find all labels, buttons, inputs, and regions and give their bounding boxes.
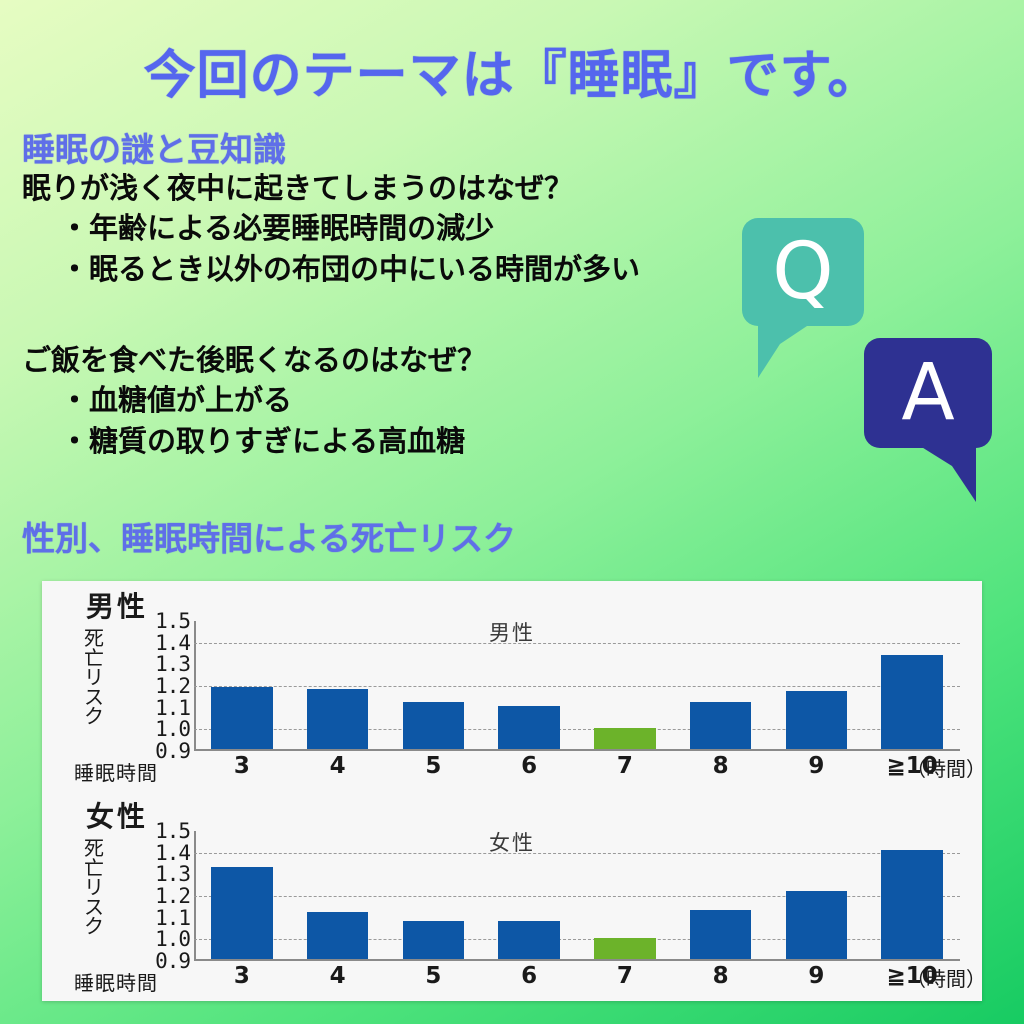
- y-axis-tick: 0.9: [155, 739, 190, 763]
- bubble-tail: [758, 324, 810, 378]
- chart-panel-male: 男性 男性 死亡リスク 1.51.41.31.21.11.00.9 睡眠時間 3…: [42, 581, 982, 791]
- y-axis-label: 死亡リスク: [80, 629, 108, 727]
- y-axis-tick: 1.5: [155, 819, 190, 843]
- bar: [594, 938, 655, 959]
- section-heading-mortality-risk: 性別、睡眠時間による死亡リスク: [22, 512, 516, 560]
- bar: [211, 867, 272, 959]
- question-text: ご飯を食べた後眠くなるのはなぜ？: [22, 340, 486, 380]
- x-axis-label: 睡眠時間: [74, 967, 158, 996]
- x-axis-unit: （時間）: [906, 963, 986, 992]
- question-bubble-icon: Q: [742, 218, 864, 326]
- chart-card: 男性 男性 死亡リスク 1.51.41.31.21.11.00.9 睡眠時間 3…: [42, 581, 982, 1001]
- qa-group-post-meal-sleepiness: ご飯を食べた後眠くなるのはなぜ？ ・血糖値が上がる ・糖質の取りすぎによる高血糖: [22, 340, 486, 462]
- bar: [786, 891, 847, 959]
- bar: [498, 921, 559, 959]
- x-axis-line: [194, 959, 960, 961]
- bubble-tail: [920, 446, 976, 502]
- y-axis-tick: 1.4: [155, 841, 190, 865]
- x-axis-ticks: 3456789≧10: [194, 753, 960, 779]
- bar-series: [194, 831, 960, 959]
- bar-slot: [290, 621, 386, 749]
- x-axis-tick: 5: [386, 753, 482, 779]
- bar: [881, 655, 942, 749]
- bar: [498, 706, 559, 749]
- answer-text: ・血糖値が上がる: [22, 380, 486, 421]
- x-axis-tick: 7: [577, 963, 673, 989]
- y-axis-label: 死亡リスク: [80, 839, 108, 937]
- bar-slot: [577, 831, 673, 959]
- bar: [690, 910, 751, 959]
- x-axis-tick: 3: [194, 753, 290, 779]
- x-axis-tick: 3: [194, 963, 290, 989]
- bar: [403, 921, 464, 959]
- answer-bubble-icon: A: [864, 338, 992, 448]
- x-axis-line: [194, 749, 960, 751]
- bar-slot: [769, 831, 865, 959]
- bar: [307, 912, 368, 959]
- y-axis-tick: 1.4: [155, 631, 190, 655]
- answer-text: ・年齢による必要睡眠時間の減少: [22, 208, 640, 249]
- qa-group-night-waking: 眠りが浅く夜中に起きてしまうのはなぜ？ ・年齢による必要睡眠時間の減少 ・眠ると…: [22, 168, 640, 290]
- question-text: 眠りが浅く夜中に起きてしまうのはなぜ？: [22, 168, 640, 208]
- bar-slot: [673, 621, 769, 749]
- y-axis-label-char: ク: [80, 707, 108, 727]
- bar-slot: [577, 621, 673, 749]
- page-title: 今回のテーマは『睡眠』です。: [0, 33, 1024, 108]
- bar: [403, 702, 464, 749]
- x-axis-tick: 9: [769, 753, 865, 779]
- bar-slot: [673, 831, 769, 959]
- bar-series: [194, 621, 960, 749]
- x-axis-tick: 4: [290, 963, 386, 989]
- x-axis-tick: 5: [386, 963, 482, 989]
- bar: [786, 691, 847, 749]
- y-axis-tick: 1.2: [155, 674, 190, 698]
- y-axis-tick: 1.3: [155, 862, 190, 886]
- bar-slot: [864, 621, 960, 749]
- y-axis-tick: 1.2: [155, 884, 190, 908]
- bubble-letter: Q: [742, 218, 864, 326]
- y-axis-tick: 1.5: [155, 609, 190, 633]
- answer-text: ・糖質の取りすぎによる高血糖: [22, 421, 486, 462]
- x-axis-tick: 8: [673, 753, 769, 779]
- x-axis-tick: 9: [769, 963, 865, 989]
- bar-slot: [194, 621, 290, 749]
- bar-slot: [194, 831, 290, 959]
- x-axis-tick: 8: [673, 963, 769, 989]
- bar-slot: [290, 831, 386, 959]
- x-axis-ticks: 3456789≧10: [194, 963, 960, 989]
- x-axis-tick: 6: [481, 963, 577, 989]
- bar-slot: [481, 831, 577, 959]
- poster-canvas: 今回のテーマは『睡眠』です。 睡眠の謎と豆知識 眠りが浅く夜中に起きてしまうのは…: [0, 0, 1024, 1024]
- x-axis-tick: 7: [577, 753, 673, 779]
- bar: [211, 687, 272, 749]
- bar: [690, 702, 751, 749]
- bar-slot: [864, 831, 960, 959]
- bar: [594, 728, 655, 749]
- x-axis-label: 睡眠時間: [74, 757, 158, 786]
- bar-slot: [481, 621, 577, 749]
- plot-area: [194, 831, 960, 961]
- x-axis-unit: （時間）: [906, 753, 986, 782]
- y-axis-tick: 1.3: [155, 652, 190, 676]
- bar-slot: [769, 621, 865, 749]
- y-axis-tick: 0.9: [155, 949, 190, 973]
- bar-slot: [386, 621, 482, 749]
- bar: [881, 850, 942, 959]
- section-heading-sleep-trivia: 睡眠の謎と豆知識: [22, 123, 286, 171]
- y-axis-tick: 1.0: [155, 927, 190, 951]
- y-axis-tick: 1.1: [155, 696, 190, 720]
- y-axis-tick: 1.1: [155, 906, 190, 930]
- bar: [307, 689, 368, 749]
- y-axis-ticks: 1.51.41.31.21.11.00.9: [116, 621, 190, 751]
- y-axis-label-char: ク: [80, 917, 108, 937]
- chart-panel-female: 女性 女性 死亡リスク 1.51.41.31.21.11.00.9 睡眠時間 3…: [42, 791, 982, 1001]
- answer-text: ・眠るとき以外の布団の中にいる時間が多い: [22, 249, 640, 290]
- bar-slot: [386, 831, 482, 959]
- y-axis-tick: 1.0: [155, 717, 190, 741]
- x-axis-tick: 6: [481, 753, 577, 779]
- y-axis-ticks: 1.51.41.31.21.11.00.9: [116, 831, 190, 961]
- x-axis-tick: 4: [290, 753, 386, 779]
- plot-area: [194, 621, 960, 751]
- bubble-letter: A: [864, 338, 992, 448]
